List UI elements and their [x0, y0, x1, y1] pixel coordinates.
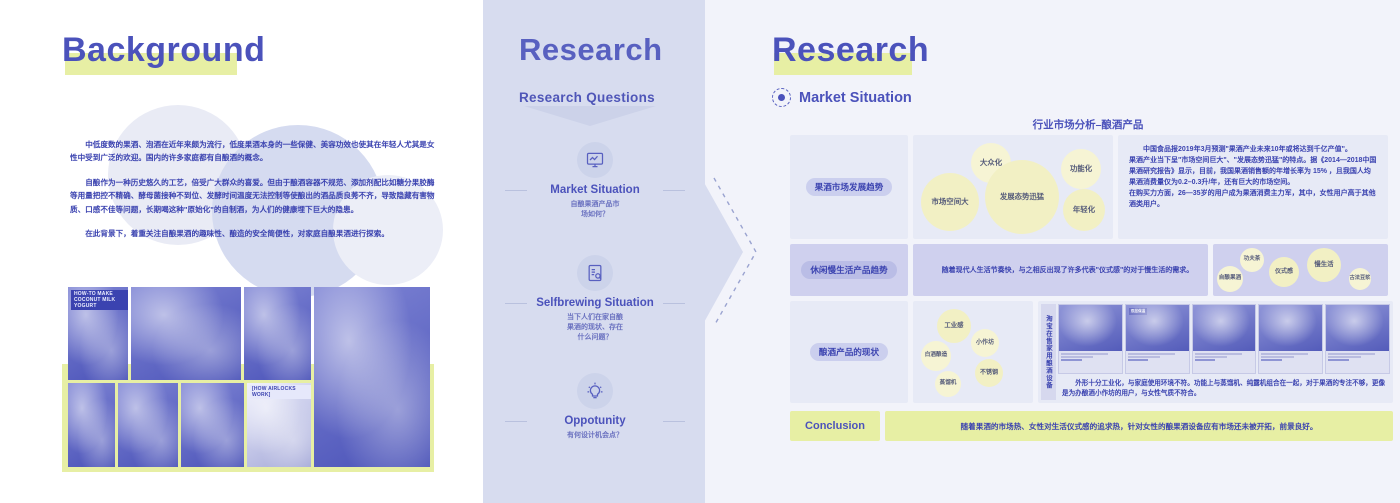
collage-photo-pouring-wine	[314, 287, 430, 467]
image-collage: HOW-TO MAKE COCONUT MILK YOGURT [HOW AIR…	[68, 287, 430, 467]
product-listing-card[interactable]	[1058, 304, 1123, 374]
product-listing-card[interactable]	[1325, 304, 1390, 374]
row-label: 酿酒产品的现状	[810, 343, 888, 361]
research-question-sub: 有何设计机会点？	[497, 431, 693, 441]
background-title-text: Background	[62, 31, 265, 69]
background-paragraph: 中低度数的果酒、泡酒在近年来颇为流行，低度果酒本身的一些保健、美容功效也使其在年…	[70, 138, 436, 165]
market-situation-heading: Market Situation	[772, 88, 912, 107]
research-question-sub: 当下人们在家自酿 果酒的现状、存在 什么问题？	[497, 313, 693, 343]
research-question-sub: 自酿果酒产品市 场如何？	[497, 200, 693, 220]
collage-photo-bottles	[118, 383, 178, 467]
row-text-cell: 随着现代人生活节奏快，与之相反出现了许多代表"仪式感"的对于慢生活的需求。	[913, 244, 1208, 296]
slide-canvas: Background 中低度数的果酒、泡酒在近年来颇为流行，低度果酒本身的一些保…	[0, 0, 1400, 503]
row-bubble-cell: 自酿果酒 功夫茶 仪式感 慢生活 古法豆浆	[1213, 244, 1388, 296]
product-image	[1059, 305, 1122, 351]
conclusion-label: Conclusion	[790, 411, 880, 441]
lightbulb-icon	[577, 373, 613, 409]
bubble: 自酿果酒	[1217, 266, 1243, 292]
background-paragraph: 在此背景下，着重关注自酿果酒的趣味性、酿造的安全简便性，对家庭自酿果酒进行探索。	[70, 227, 436, 240]
row-bubble-cell: 市场空间大 大众化 发展态势迅猛 功能化 年轻化	[913, 135, 1113, 239]
screenshot-caption: 外形十分工业化，与家庭使用环境不符。功能上与蒸馏机、纯露机组合在一起，对于果酒的…	[1058, 376, 1390, 398]
row-text: 随着现代人生活节奏快，与之相反出现了许多代表"仪式感"的对于慢生活的需求。	[917, 256, 1205, 285]
bubble: 古法豆浆	[1349, 268, 1371, 290]
research-question-label: Oppotunity	[497, 415, 693, 427]
research-question-selfbrewing-situation[interactable]: Selfbrewing Situation 当下人们在家自酿 果酒的现状、存在 …	[497, 255, 693, 343]
bubble: 白酒酿造	[921, 341, 951, 371]
analysis-table: 果酒市场发展趋势 市场空间大 大众化 发展态势迅猛 功能化 年轻化 中国食品报2…	[790, 135, 1393, 441]
research-right-title-text: Research	[772, 31, 929, 69]
collage-photo-ferment-jar	[244, 287, 311, 380]
research-question-label: Selfbrewing Situation	[497, 297, 693, 309]
product-listing-card[interactable]	[1192, 304, 1257, 374]
row-label-cell: 休闲慢生活产品趋势	[790, 244, 908, 296]
background-body-text: 中低度数的果酒、泡酒在近年来颇为流行，低度果酒本身的一些保健、美容功效也使其在年…	[70, 138, 436, 251]
bubble: 仪式感	[1269, 257, 1299, 287]
background-paragraph: 自酿作为一种历史悠久的工艺，倍受广大群众的喜爱。但由于酿酒容器不规范、添加剂配比…	[70, 176, 436, 216]
row-bubble-cell: 工业感 小作坊 白酒酿造 不锈钢 蒸馏机	[913, 301, 1033, 403]
table-row: 果酒市场发展趋势 市场空间大 大众化 发展态势迅猛 功能化 年轻化 中国食品报2…	[790, 135, 1393, 239]
product-listing-card[interactable]: 双层保温	[1125, 304, 1190, 374]
row-label-cell: 酿酒产品的现状	[790, 301, 908, 403]
row-text-cell: 中国食品报2019年3月预测"果酒产业未来10年或将达到千亿产值"。 果酒产业当…	[1118, 135, 1388, 239]
radio-dot-icon	[772, 88, 791, 107]
conclusion-text: 随着果酒的市场热、女性对生活仪式感的追求热，针对女性的酿果酒设备应有市场还未被开…	[885, 411, 1393, 441]
collage-photo-shelf	[181, 383, 244, 467]
page-title-research-mid: Research	[519, 32, 663, 68]
bubble: 市场空间大	[921, 173, 979, 231]
product-image	[1326, 305, 1389, 351]
page-title-research-right: Research	[772, 31, 929, 70]
collage-photo-yogurt: HOW-TO MAKE COCONUT MILK YOGURT	[68, 287, 128, 380]
bubble: 年轻化	[1063, 189, 1105, 231]
collage-photo-jar	[131, 287, 241, 380]
collage-caption-howto: HOW-TO MAKE COCONUT MILK YOGURT	[71, 290, 128, 310]
bubble: 功夫茶	[1240, 248, 1264, 272]
table-row: 酿酒产品的现状 工业感 小作坊 白酒酿造 不锈钢 蒸馏机 淘宝在售家用酿酒设备	[790, 301, 1393, 403]
collage-photo-airlock: [HOW AIRLOCKS WORK]	[247, 383, 311, 467]
product-image	[1259, 305, 1322, 351]
conclusion-row: Conclusion 随着果酒的市场热、女性对生活仪式感的追求热，针对女性的酿果…	[790, 411, 1393, 441]
bubble: 蒸馏机	[935, 371, 961, 397]
bubble: 不锈钢	[975, 359, 1003, 387]
product-listing-row: 双层保温	[1058, 304, 1390, 374]
vertical-axis-label: 淘宝在售家用酿酒设备	[1041, 304, 1056, 400]
research-question-opportunity[interactable]: Oppotunity 有何设计机会点？	[497, 373, 693, 441]
row-label-cell: 果酒市场发展趋势	[790, 135, 908, 239]
chevron-dashed-line	[712, 176, 758, 328]
table-row: 休闲慢生活产品趋势 随着现代人生活节奏快，与之相反出现了许多代表"仪式感"的对于…	[790, 244, 1393, 296]
row-label: 果酒市场发展趋势	[806, 178, 893, 196]
product-image	[1193, 305, 1256, 351]
research-questions-heading: Research Questions	[519, 90, 655, 105]
bubble: 发展态势迅猛	[985, 160, 1059, 234]
page-title-background: Background	[62, 31, 265, 70]
bubble: 功能化	[1061, 149, 1101, 189]
analysis-table-title: 行业市场分析–酿酒产品	[788, 117, 1388, 132]
research-question-market-situation[interactable]: Market Situation 自酿果酒产品市 场如何？	[497, 142, 693, 220]
row-text-body: 中国食品报2019年3月预测"果酒产业未来10年或将达到千亿产值"。 果酒产业当…	[1129, 144, 1377, 210]
taobao-screenshot-group: 淘宝在售家用酿酒设备 双层保温	[1038, 301, 1393, 403]
product-image: 双层保温	[1126, 305, 1189, 351]
collage-caption-airlock: [HOW AIRLOCKS WORK]	[250, 385, 311, 399]
bubble: 慢生活	[1307, 248, 1341, 282]
product-badge: 双层保温	[1129, 308, 1147, 315]
research-question-label: Market Situation	[497, 184, 693, 196]
row-label: 休闲慢生活产品趋势	[801, 261, 896, 279]
market-situation-label: Market Situation	[799, 90, 912, 106]
row-text: 中国食品报2019年3月预测"果酒产业未来10年或将达到千亿产值"。 果酒产业当…	[1118, 135, 1388, 219]
product-listing-card[interactable]	[1258, 304, 1323, 374]
research-mid-title-text: Research	[519, 32, 663, 67]
document-search-icon	[577, 255, 613, 291]
bubble: 工业感	[937, 309, 971, 343]
collage-photo-pickle-jars	[68, 383, 115, 467]
bubble: 小作坊	[971, 329, 999, 357]
monitor-chart-icon	[577, 142, 613, 178]
